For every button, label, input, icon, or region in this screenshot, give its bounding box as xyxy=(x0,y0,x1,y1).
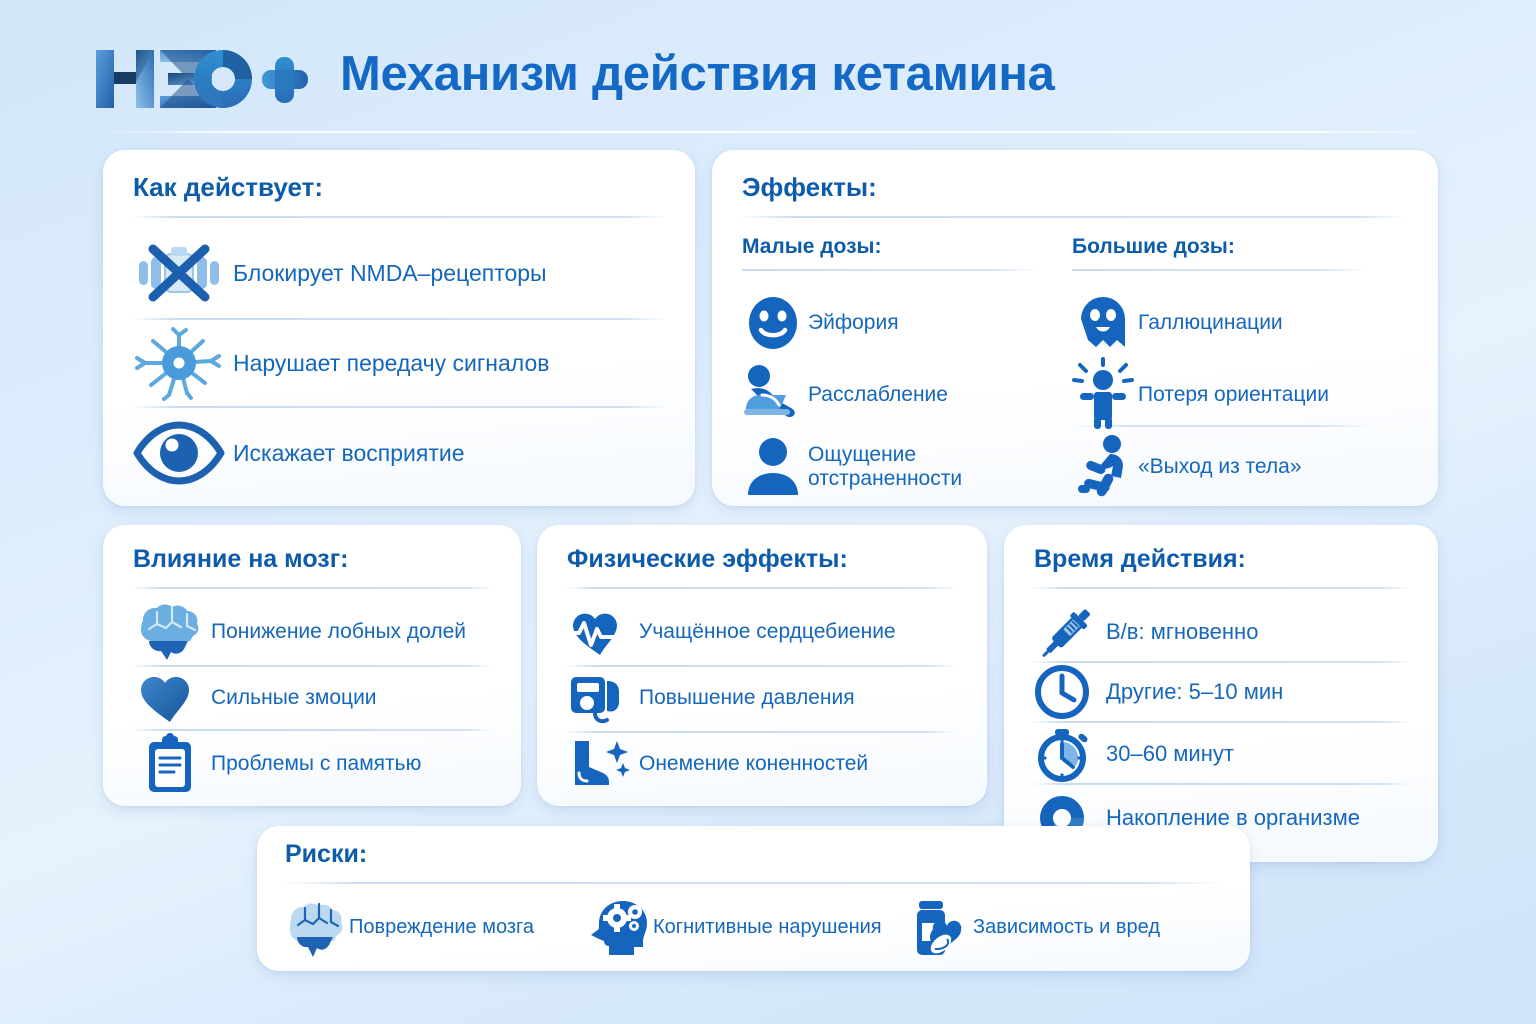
list-item[interactable]: Зависимость и вред xyxy=(907,896,1160,960)
list-item[interactable]: «Выход из тела» xyxy=(1072,431,1302,503)
divider xyxy=(131,406,667,408)
list-item-label: Повышение давления xyxy=(639,686,855,710)
list-item[interactable]: Нарушает передачу сигналов xyxy=(131,320,676,406)
divider xyxy=(131,587,493,589)
list-item[interactable]: 30–60 минут xyxy=(1032,723,1432,785)
list-item-label: Ощущение отстраненности xyxy=(808,443,1052,492)
divider xyxy=(283,882,1221,884)
list-item-label: Искажает восприятие xyxy=(233,440,465,467)
divider xyxy=(740,216,1408,218)
card-brain-impact: Влияние на мозг: Понижение лобных долей … xyxy=(103,525,521,806)
list-item[interactable]: Онемение коненностей xyxy=(565,731,977,797)
dizzy-person-icon xyxy=(1072,361,1134,429)
list-item-label: В/в: мгновенно xyxy=(1106,619,1258,645)
heart-icon xyxy=(131,668,209,728)
syringe-icon xyxy=(1032,603,1100,661)
list-item-label: «Выход из тела» xyxy=(1138,455,1302,479)
card-duration: Время действия: В/в: мгновенно xyxy=(1004,525,1438,862)
page-header: Механизм действия кетамина xyxy=(0,0,1536,140)
list-item-label: Потеря ориентации xyxy=(1138,383,1329,407)
list-item-label: Онемение коненностей xyxy=(639,752,868,776)
list-item[interactable]: Сильные змоции xyxy=(131,665,511,731)
list-item-label: Когнитивные нарушения xyxy=(653,916,882,939)
blocked-receptor-icon xyxy=(131,237,227,309)
subcolumn-title: Большие дозы: xyxy=(1072,235,1235,259)
card-title-effects: Эффекты: xyxy=(742,172,877,203)
card-title-risks: Риски: xyxy=(285,840,367,869)
card-effects: Эффекты: Малые дозы: Эйфория xyxy=(712,150,1438,506)
list-item-label: Понижение лобных долей xyxy=(211,620,466,644)
list-item[interactable]: Понижение лобных долей xyxy=(131,599,511,665)
subcolumn-high-doses: Большие дозы: Галлюцинации xyxy=(1072,235,1402,485)
subcolumn-low-doses: Малые дозы: Эйфория xyxy=(742,235,1052,485)
list-item[interactable]: Блокирует NMDA–рецепторы xyxy=(131,230,676,316)
ghost-icon xyxy=(1072,289,1134,357)
stopwatch-icon xyxy=(1032,725,1100,783)
card-risks: Риски: Повреждение мозга xyxy=(257,826,1250,971)
divider xyxy=(1032,587,1410,589)
brand-logo xyxy=(92,42,292,116)
brain-damage-icon xyxy=(283,899,345,957)
list-item[interactable]: Повреждение мозга xyxy=(283,896,534,960)
list-item[interactable]: Проблемы с памятью xyxy=(131,731,511,797)
list-item-label: Эйфория xyxy=(808,311,899,335)
list-item-label: Другие: 5–10 мин xyxy=(1106,679,1283,705)
list-item-label: Нарушает передачу сигналов xyxy=(233,350,549,377)
heartbeat-icon xyxy=(565,603,635,661)
card-how-it-works: Как действует: Блокирует NMDA–рецепторы xyxy=(103,150,695,506)
divider xyxy=(1072,269,1367,271)
brain-icon xyxy=(131,602,209,662)
reclining-person-icon xyxy=(742,361,804,429)
list-item[interactable]: Галлюцинации xyxy=(1072,287,1283,359)
card-title-brain: Влияние на мозг: xyxy=(133,545,348,574)
head-gears-icon xyxy=(587,899,649,957)
list-item[interactable]: Когнитивные нарушения xyxy=(587,896,882,960)
clock-icon xyxy=(1032,663,1100,721)
list-item-label: Сильные змоции xyxy=(211,686,377,710)
list-item-label: Галлюцинации xyxy=(1138,311,1283,335)
list-item-label: Проблемы с памятью xyxy=(211,752,421,776)
list-item[interactable]: Ощущение отстраненности xyxy=(742,431,1052,503)
card-title-physical: Физические эффекты: xyxy=(567,545,848,574)
list-item[interactable]: Эйфория xyxy=(742,287,899,359)
card-title-time: Время действия: xyxy=(1034,545,1246,574)
clipboard-icon xyxy=(131,734,209,794)
list-item[interactable]: Другие: 5–10 мин xyxy=(1032,661,1432,723)
divider xyxy=(742,269,1037,271)
list-item[interactable]: Повышение давления xyxy=(565,665,977,731)
blood-pressure-monitor-icon xyxy=(565,669,635,727)
list-item[interactable]: Расслабление xyxy=(742,359,948,431)
card-physical-effects: Физические эффекты: Учащённое сердцебиен… xyxy=(537,525,987,806)
smiley-face-icon xyxy=(742,289,804,357)
header-divider xyxy=(98,131,1438,133)
list-item[interactable]: В/в: мгновенно xyxy=(1032,601,1432,663)
list-item[interactable]: Учащённое сердцебиение xyxy=(565,599,977,665)
list-item-label: Блокирует NMDA–рецепторы xyxy=(233,260,547,287)
floating-person-icon xyxy=(1072,433,1134,501)
divider xyxy=(131,216,667,218)
subcolumn-title: Малые дозы: xyxy=(742,235,881,259)
neuron-icon xyxy=(131,327,227,399)
list-item[interactable]: Искажает восприятие xyxy=(131,410,676,496)
list-item-label: Зависимость и вред xyxy=(973,916,1160,939)
list-item-label: Расслабление xyxy=(808,383,948,407)
eye-icon xyxy=(131,417,227,489)
list-item-label: 30–60 минут xyxy=(1106,741,1234,767)
page-title: Механизм действия кетамина xyxy=(340,46,1055,102)
numb-foot-icon xyxy=(565,735,635,793)
list-item-label: Учащённое сердцебиение xyxy=(639,620,896,644)
pill-bottle-icon xyxy=(907,899,969,957)
list-item[interactable]: Потеря ориентации xyxy=(1072,359,1329,431)
person-bust-icon xyxy=(742,433,804,501)
list-item-label: Повреждение мозга xyxy=(349,916,534,939)
divider xyxy=(565,587,957,589)
card-title-how: Как действует: xyxy=(133,172,323,203)
